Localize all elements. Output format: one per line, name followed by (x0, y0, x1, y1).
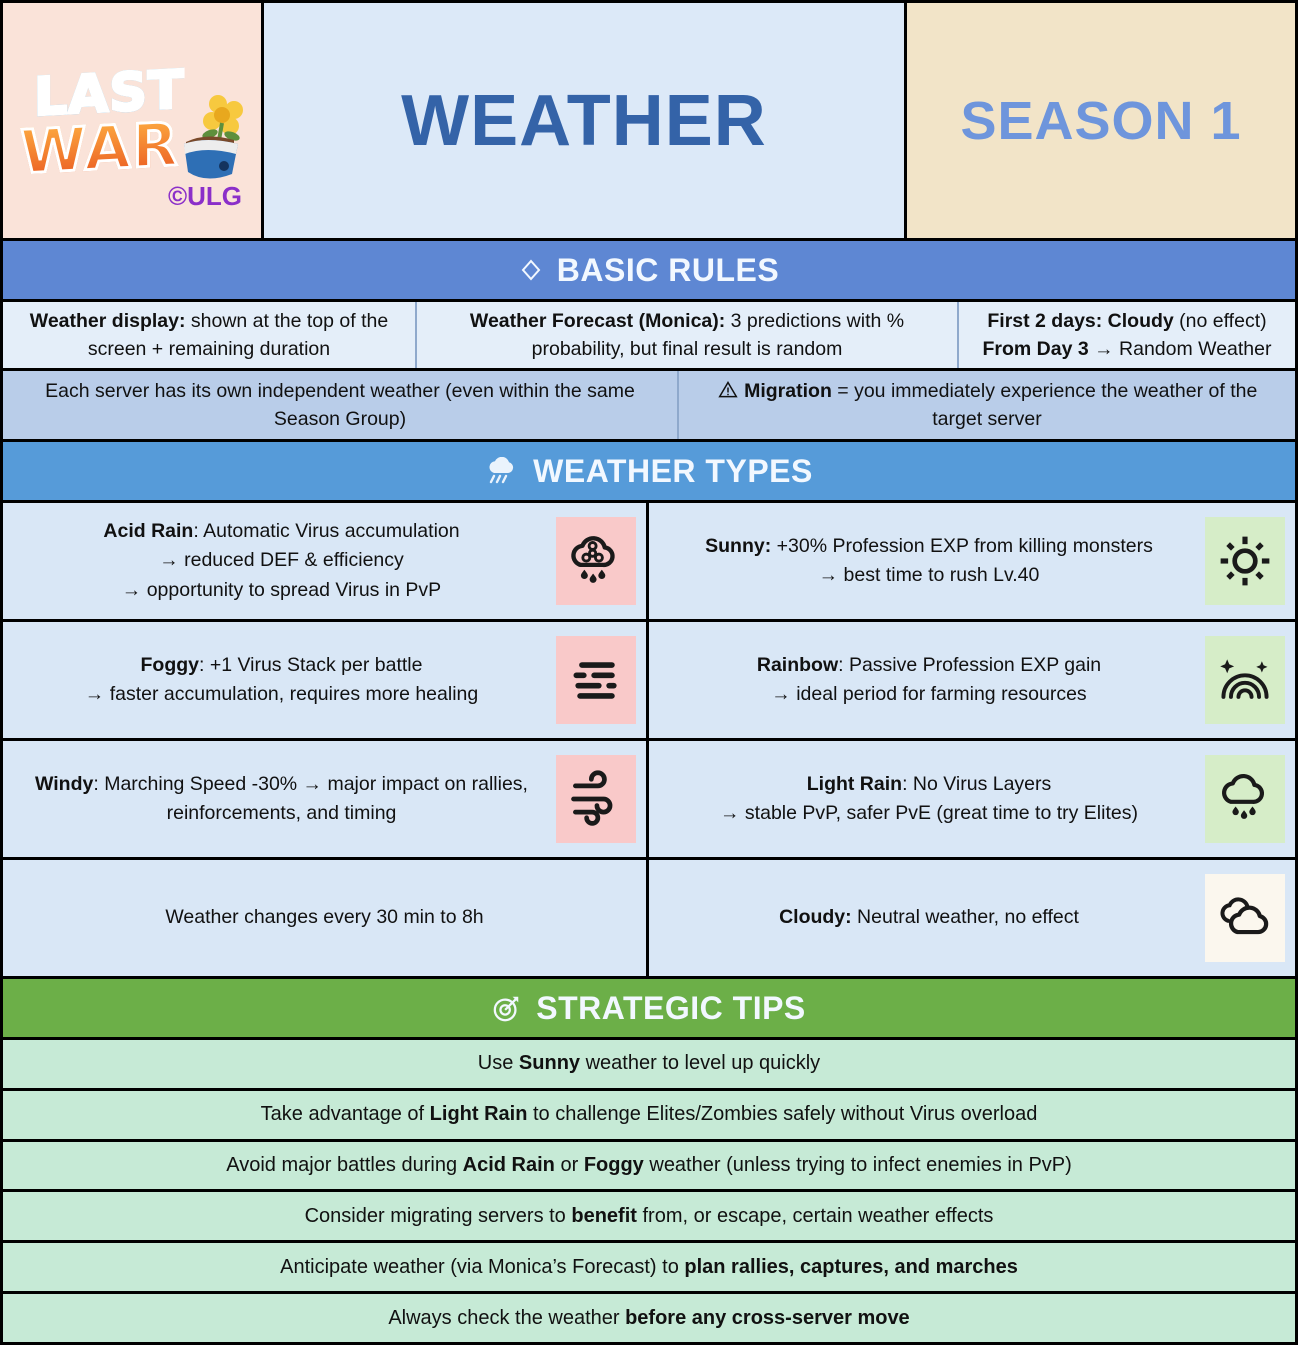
weather-type-foggy-line2: → faster accumulation, requires more hea… (85, 683, 478, 705)
sun-icon (1205, 517, 1285, 605)
dart-target-icon (492, 993, 522, 1023)
weather-type-foggy-rest: : +1 Virus Stack per battle (199, 654, 422, 676)
weather-type-cloudy: Cloudy: Neutral weather, no effect (649, 860, 1295, 976)
weather-type-foggy-text: Foggy: +1 Virus Stack per battle → faste… (13, 651, 550, 710)
section-banner-basic-rules: BASIC RULES (3, 241, 1295, 302)
weather-type-sunny-line2: → best time to rush Lv.40 (819, 564, 1040, 586)
weather-type-light-rain-lead: Light Rain (807, 773, 902, 795)
weather-type-light-rain: Light Rain: No Virus Layers → stable PvP… (649, 741, 1295, 857)
section-banner-strategic-tips: STRATEGIC TIPS (3, 976, 1295, 1040)
rule-first-days-rest: (no effect) (1174, 310, 1267, 332)
warning-triangle-icon (717, 380, 744, 402)
weather-type-sunny-text: Sunny: +30% Profession EXP from killing … (659, 532, 1199, 591)
flower-pot-icon (160, 88, 252, 189)
strategic-tip-4: Consider migrating servers to benefit fr… (3, 1192, 1295, 1243)
tip-4-post: from, or escape, certain weather effects (637, 1205, 993, 1227)
weather-change-frequency-text: Weather changes every 30 min to 8h (13, 903, 636, 932)
wind-icon (556, 755, 636, 843)
section-banner-strategic-tips-label: STRATEGIC TIPS (536, 990, 806, 1027)
weather-type-windy-lead: Windy (35, 773, 93, 795)
tip-2-bold: Light Rain (430, 1103, 528, 1125)
logo-text-war: WAR (20, 109, 179, 187)
rule-weather-forecast-lead: Weather Forecast (Monica): (470, 310, 725, 332)
tip-3-mid: or (555, 1154, 584, 1176)
weather-type-sunny-rest: +30% Profession EXP from killing monster… (771, 535, 1153, 557)
section-banner-weather-types-label: WEATHER TYPES (533, 453, 813, 490)
tip-1-post: weather to level up quickly (580, 1052, 820, 1074)
weather-type-rainbow-line2: → ideal period for farming resources (771, 683, 1086, 705)
season-badge-text: SEASON 1 (960, 90, 1241, 152)
weather-type-sunny: Sunny: +30% Profession EXP from killing … (649, 503, 1295, 619)
rule-day3-lead: From Day 3 → (982, 338, 1113, 360)
page-title: WEATHER (264, 3, 907, 238)
rule-migration-lead: Migration (744, 380, 832, 402)
fog-icon (556, 636, 636, 724)
weather-types-row: Windy: Marching Speed -30% → major impac… (3, 741, 1295, 860)
strategic-tip-1: Use Sunny weather to level up quickly (3, 1040, 1295, 1091)
weather-types-grid: Acid Rain: Automatic Virus accumulation … (3, 503, 1295, 976)
basic-rules-row-1: Weather display: shown at the top of the… (3, 302, 1295, 371)
tip-3-pre: Avoid major battles during (226, 1154, 462, 1176)
strategic-tips-list: Use Sunny weather to level up quickly Ta… (3, 1040, 1295, 1342)
weather-type-foggy-lead: Foggy (141, 654, 200, 676)
weather-type-windy-text: Windy: Marching Speed -30% → major impac… (13, 770, 550, 829)
basic-rules-row-2: Each server has its own independent weat… (3, 371, 1295, 442)
weather-type-rainbow-text: Rainbow: Passive Profession EXP gain → i… (659, 651, 1199, 710)
rain-cloud-icon (485, 457, 519, 485)
season-badge: SEASON 1 (907, 3, 1295, 238)
weather-type-rainbow-lead: Rainbow (757, 654, 838, 676)
weather-type-rainbow-rest: : Passive Profession EXP gain (838, 654, 1101, 676)
rule-migration: Migration = you immediately experience t… (679, 371, 1295, 439)
tip-5-pre: Anticipate weather (via Monica’s Forecas… (280, 1256, 684, 1278)
strategic-tip-3: Avoid major battles during Acid Rain or … (3, 1142, 1295, 1193)
copyright-ulg: ©ULG (168, 181, 242, 212)
tip-3-bold: Acid Rain (463, 1154, 555, 1176)
weather-type-acid-rain: Acid Rain: Automatic Virus accumulation … (3, 503, 649, 619)
acid-rain-icon (556, 517, 636, 605)
rule-independent-weather: Each server has its own independent weat… (3, 371, 679, 439)
section-banner-weather-types: WEATHER TYPES (3, 442, 1295, 503)
weather-type-acid-rain-rest: : Automatic Virus accumulation (193, 520, 459, 542)
tip-4-bold: benefit (571, 1205, 637, 1227)
infographic-sheet: LAST WAR (0, 0, 1298, 1345)
weather-types-row: Acid Rain: Automatic Virus accumulation … (3, 503, 1295, 622)
weather-type-windy: Windy: Marching Speed -30% → major impac… (3, 741, 649, 857)
weather-type-acid-rain-line3: → opportunity to spread Virus in PvP (122, 579, 441, 601)
rule-migration-rest: = you immediately experience the weather… (832, 380, 1257, 430)
weather-type-acid-rain-lead: Acid Rain (103, 520, 193, 542)
tip-1-pre: Use (478, 1052, 519, 1074)
tip-3-post: weather (unless trying to infect enemies… (644, 1154, 1072, 1176)
light-rain-icon (1205, 755, 1285, 843)
diamond-icon (519, 258, 543, 282)
weather-types-row: Weather changes every 30 min to 8h Cloud… (3, 860, 1295, 976)
weather-type-acid-rain-text: Acid Rain: Automatic Virus accumulation … (13, 517, 550, 605)
weather-type-rainbow: Rainbow: Passive Profession EXP gain → i… (649, 622, 1295, 738)
tip-1-bold: Sunny (519, 1052, 580, 1074)
section-banner-basic-rules-label: BASIC RULES (557, 252, 779, 289)
weather-type-windy-rest: : Marching Speed -30% → major impact on … (93, 773, 528, 824)
strategic-tip-5: Anticipate weather (via Monica’s Forecas… (3, 1243, 1295, 1294)
weather-type-light-rain-text: Light Rain: No Virus Layers → stable PvP… (659, 770, 1199, 829)
rainbow-icon (1205, 636, 1285, 724)
game-logo: LAST WAR (12, 26, 252, 216)
tip-2-post: to challenge Elites/Zombies safely witho… (527, 1103, 1037, 1125)
rule-first-days: First 2 days: Cloudy (no effect) From Da… (959, 302, 1295, 368)
weather-type-cloudy-rest: Neutral weather, no effect (852, 906, 1079, 928)
tip-6-bold: before any cross-server move (625, 1307, 910, 1329)
weather-types-row: Foggy: +1 Virus Stack per battle → faste… (3, 622, 1295, 741)
rule-day3-rest: Random Weather (1114, 338, 1272, 360)
tip-3-bold2: Foggy (584, 1154, 644, 1176)
rule-weather-display-lead: Weather display: (30, 310, 186, 332)
weather-type-light-rain-line2: → stable PvP, safer PvE (great time to t… (720, 802, 1138, 824)
rule-independent-weather-text: Each server has its own independent weat… (15, 377, 665, 434)
rule-first-days-lead: First 2 days: Cloudy (987, 310, 1173, 332)
tip-2-pre: Take advantage of (261, 1103, 430, 1125)
page-title-text: WEATHER (401, 80, 767, 162)
tip-4-pre: Consider migrating servers to (305, 1205, 572, 1227)
logo-cell: LAST WAR (3, 3, 264, 238)
weather-change-frequency: Weather changes every 30 min to 8h (3, 860, 649, 976)
weather-type-foggy: Foggy: +1 Virus Stack per battle → faste… (3, 622, 649, 738)
strategic-tip-6: Always check the weather before any cros… (3, 1294, 1295, 1342)
tip-6-pre: Always check the weather (388, 1307, 625, 1329)
weather-type-cloudy-lead: Cloudy: (779, 906, 852, 928)
tip-5-bold: plan rallies, captures, and marches (684, 1256, 1017, 1278)
cloud-icon (1205, 874, 1285, 962)
weather-type-light-rain-rest: : No Virus Layers (902, 773, 1051, 795)
rule-weather-display: Weather display: shown at the top of the… (3, 302, 417, 368)
strategic-tip-2: Take advantage of Light Rain to challeng… (3, 1091, 1295, 1142)
weather-type-cloudy-text: Cloudy: Neutral weather, no effect (659, 903, 1199, 932)
header: LAST WAR (3, 3, 1295, 241)
weather-type-acid-rain-line2: → reduced DEF & efficiency (159, 549, 404, 571)
rule-weather-forecast: Weather Forecast (Monica): 3 predictions… (417, 302, 959, 368)
weather-type-sunny-lead: Sunny: (705, 535, 771, 557)
